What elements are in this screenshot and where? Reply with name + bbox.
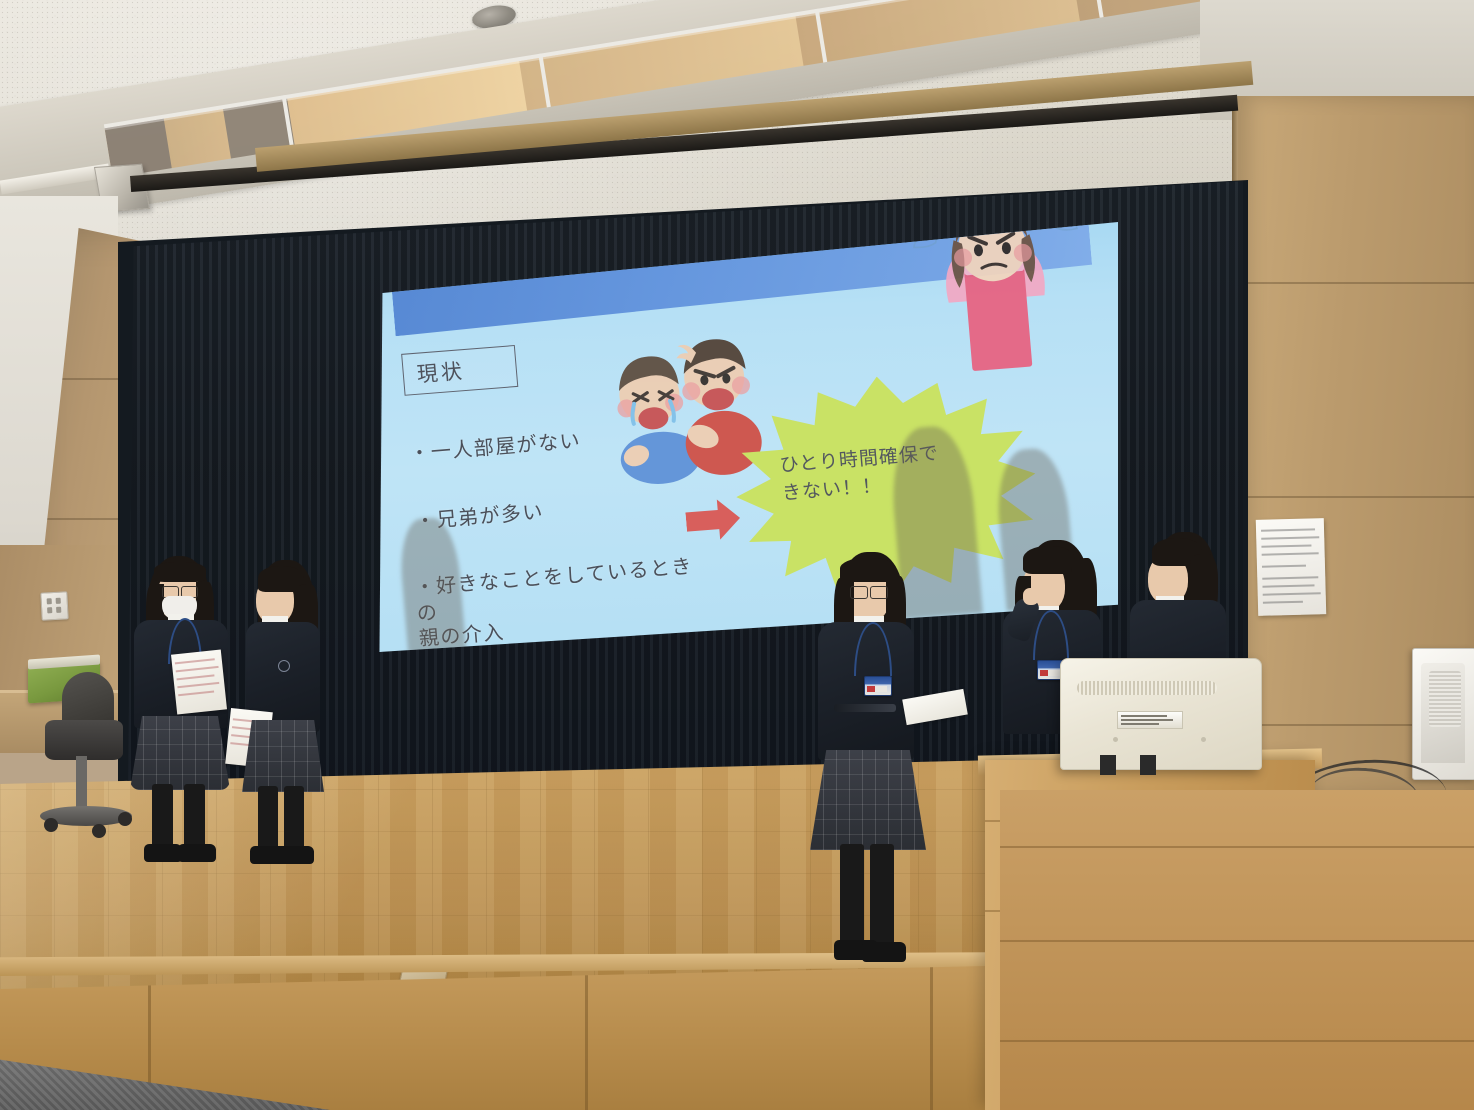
monitor-stand-foot: [1100, 755, 1116, 775]
presenter-shadow: [397, 516, 467, 652]
glasses-icon: [850, 586, 868, 599]
shoe: [862, 942, 906, 962]
leg: [152, 784, 173, 850]
leg: [870, 844, 894, 948]
glasses-icon: [870, 586, 888, 599]
wall-switch-plate[interactable]: [40, 591, 68, 620]
leg: [840, 844, 864, 948]
hand: [1023, 588, 1039, 605]
shoe: [144, 844, 182, 862]
stool-caster: [92, 824, 106, 838]
presentation-hall-photo: でも、、、実際 ありのままの時間を持てていない！ 現状 ・一人部屋がない ・兄弟…: [0, 0, 1474, 1110]
slide-section-label: 現状: [416, 355, 466, 389]
stool-caster: [44, 818, 58, 832]
blazer-emblem: [278, 660, 290, 672]
leg: [184, 784, 205, 850]
monitor-screw: [1113, 737, 1118, 742]
name-badge: [864, 676, 892, 696]
leg: [284, 786, 304, 852]
rolling-stool-seat[interactable]: [45, 720, 123, 760]
monitor-screw: [1201, 737, 1206, 742]
plaid-skirt: [130, 716, 230, 790]
student-3: [800, 552, 930, 972]
monitor-label: [1117, 711, 1183, 729]
leg: [258, 786, 278, 852]
student-1: [122, 556, 242, 866]
hair-bangs: [1023, 546, 1075, 574]
student-2: [232, 560, 342, 865]
slide-bullet-1: ・一人部屋がない: [408, 428, 582, 467]
handout-paper: [171, 650, 227, 715]
fighting-children-illustration: [598, 321, 781, 494]
monitor-vent-grill: [1429, 671, 1461, 727]
white-wall-monitor: [1412, 648, 1474, 780]
shoe: [276, 846, 314, 864]
plaid-skirt: [810, 750, 926, 850]
plaid-skirt: [242, 720, 324, 792]
red-right-arrow-icon: [684, 494, 742, 546]
hair-bangs: [154, 562, 206, 582]
desktop-monitor-rear: [1060, 658, 1262, 770]
angry-mother-illustration: [933, 222, 1059, 383]
monitor-stand-foot: [1140, 755, 1156, 775]
wall-notice-paper: [1256, 518, 1326, 616]
belt: [834, 704, 896, 712]
front-desk: [1000, 790, 1474, 1110]
monitor-vent-strip: [1077, 681, 1217, 695]
shoe: [178, 844, 216, 862]
